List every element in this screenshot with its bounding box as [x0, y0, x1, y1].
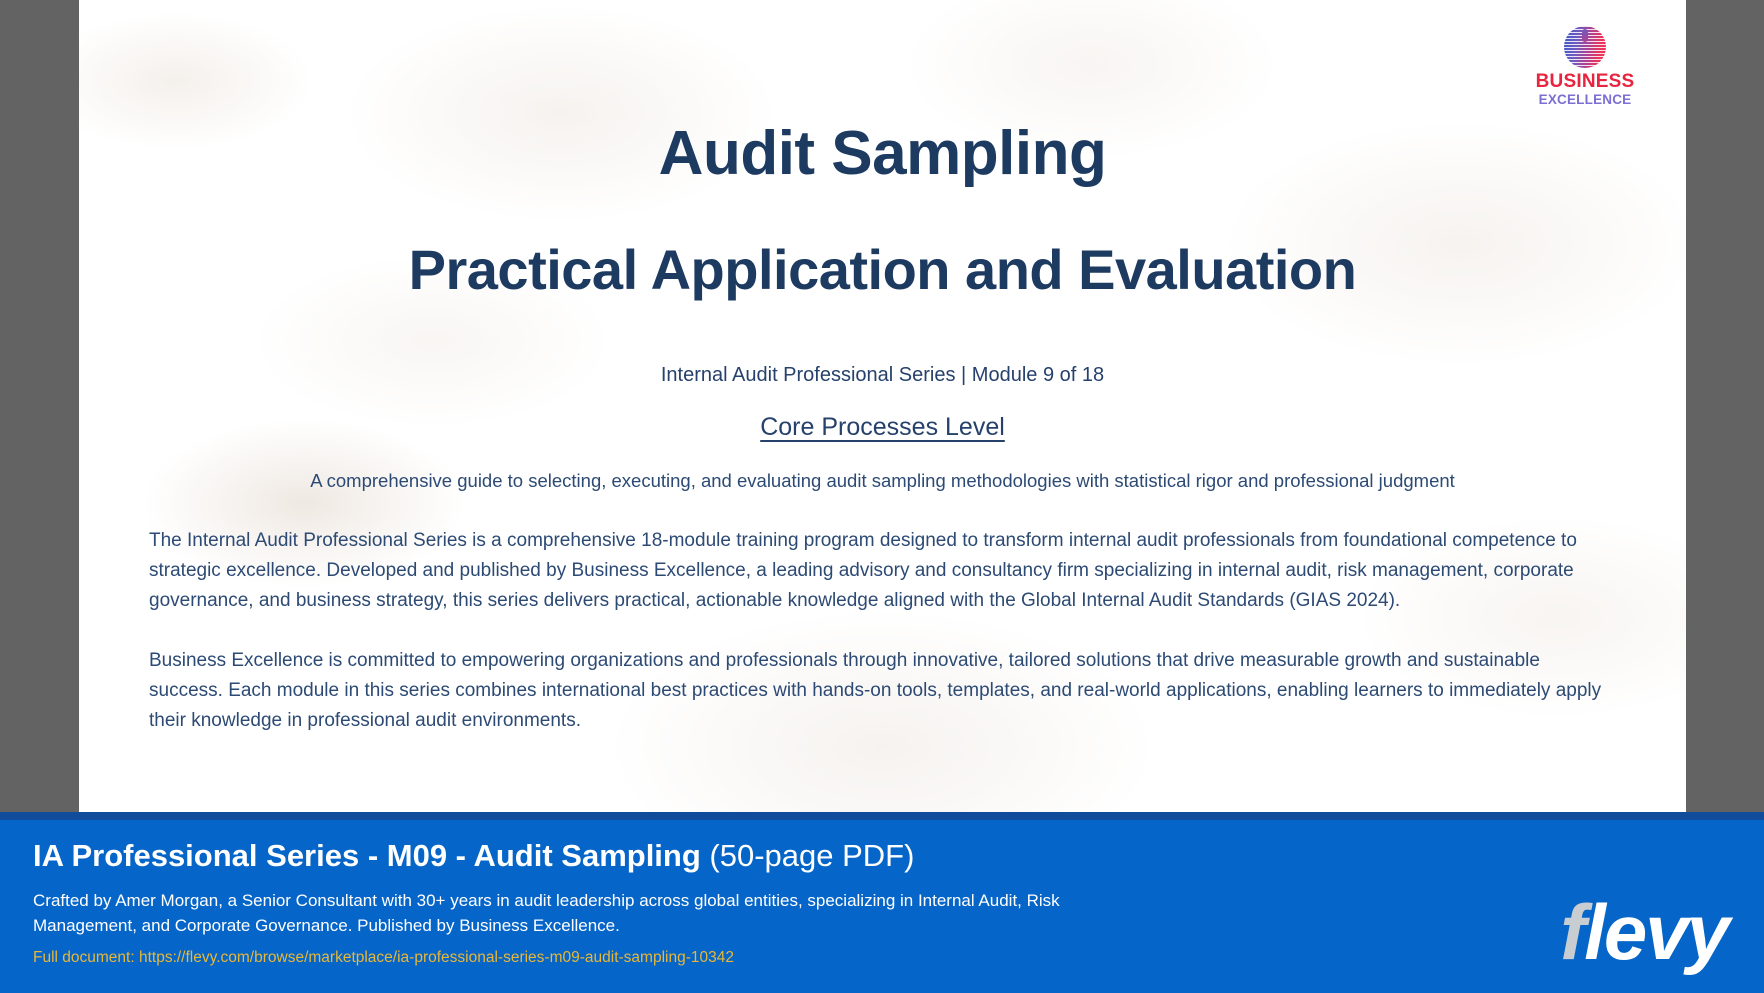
banner-document-title: IA Professional Series - M09 - Audit Sam…: [33, 838, 1764, 874]
screenshot-root: BUSINESS EXCELLENCE Audit Sampling Pract…: [0, 0, 1764, 993]
banner-top-edge: [0, 812, 1764, 820]
banner-document-link[interactable]: Full document: https://flevy.com/browse/…: [33, 949, 1764, 967]
banner-title-pagecount: (50-page PDF): [709, 838, 914, 873]
banner-description: Crafted by Amer Morgan, a Senior Consult…: [33, 888, 1143, 938]
flevy-logo-rest: levy: [1584, 888, 1728, 976]
banner-content: IA Professional Series - M09 - Audit Sam…: [33, 838, 1764, 967]
body-copy: The Internal Audit Professional Series i…: [149, 526, 1616, 736]
page-subtitle: Practical Application and Evaluation: [79, 237, 1686, 302]
business-excellence-logo-mark-icon: [1564, 26, 1606, 68]
series-module-line: Internal Audit Professional Series | Mod…: [79, 364, 1686, 387]
page-title: Audit Sampling: [79, 118, 1686, 189]
body-paragraph: Business Excellence is committed to empo…: [149, 646, 1616, 736]
flevy-promo-banner: IA Professional Series - M09 - Audit Sam…: [0, 812, 1764, 993]
flevy-logo[interactable]: flevy: [1560, 893, 1728, 971]
flevy-logo-f: f: [1560, 888, 1584, 976]
level-label-text: Core Processes Level: [760, 413, 1005, 441]
body-paragraph: The Internal Audit Professional Series i…: [149, 526, 1616, 616]
tagline: A comprehensive guide to selecting, exec…: [79, 470, 1686, 492]
logo-text-business: BUSINESS: [1526, 72, 1644, 92]
logo-text-excellence: EXCELLENCE: [1526, 92, 1644, 108]
level-label: Core Processes Level: [79, 413, 1686, 442]
slide-canvas: BUSINESS EXCELLENCE Audit Sampling Pract…: [79, 0, 1686, 812]
banner-title-main: IA Professional Series - M09 - Audit Sam…: [33, 838, 709, 873]
business-excellence-logo: BUSINESS EXCELLENCE: [1526, 26, 1644, 107]
